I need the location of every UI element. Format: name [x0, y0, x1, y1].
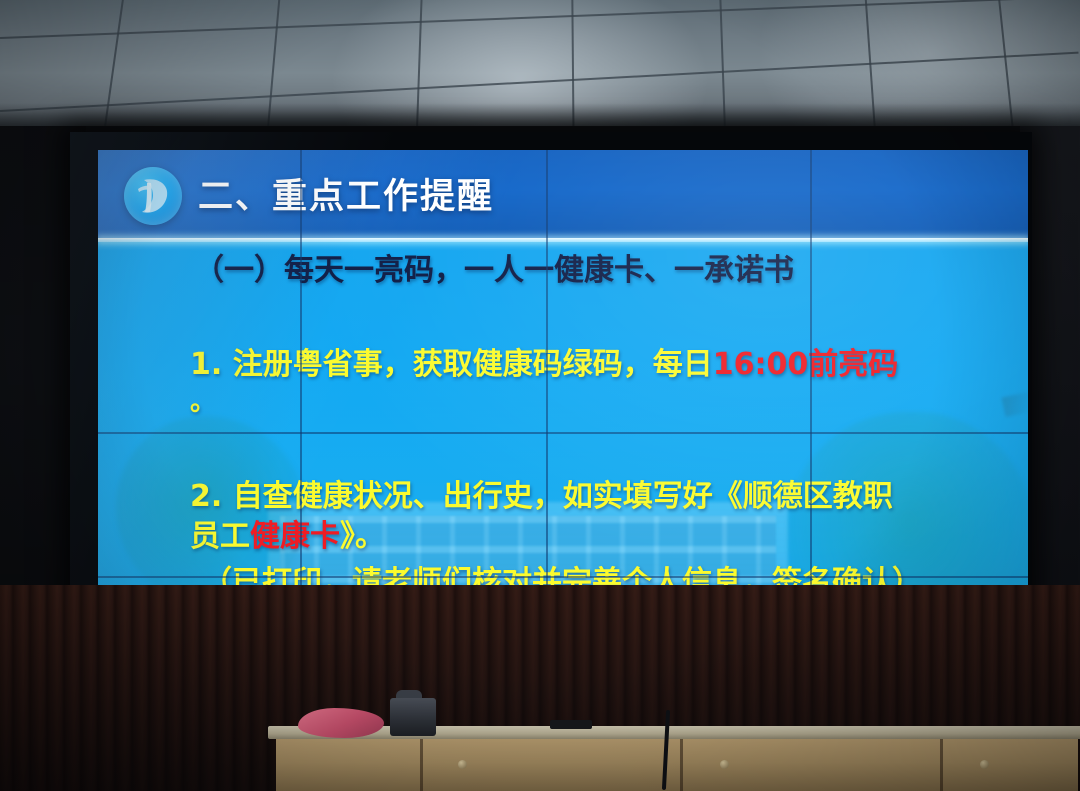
- list-item-1-text: 注册粤省事，获取健康码绿码，每日: [233, 347, 713, 382]
- mobile-phone: [550, 720, 592, 729]
- list-item-2-line1: 2. 自查健康状况、出行史，如实填写好《顺德区教职: [190, 478, 893, 516]
- organization-logo-icon: [124, 167, 182, 225]
- list-item-1-tail: 。: [190, 386, 216, 419]
- podium-panel-seam: [940, 739, 943, 791]
- pink-cloth: [298, 708, 384, 738]
- list-item-2-text-b: 员工: [190, 519, 250, 554]
- podium-front-panel: [276, 739, 1078, 791]
- list-item-1-highlight: 16:00前亮码: [713, 347, 899, 382]
- list-item-2-number: 2.: [190, 479, 222, 514]
- slide-title: 二、重点工作提醒: [198, 168, 494, 219]
- podium-panel-seam: [680, 739, 683, 791]
- cabinet-knob[interactable]: [458, 760, 467, 769]
- cabinet-knob[interactable]: [980, 760, 989, 769]
- conference-room-photo: 二、重点工作提醒 （一）每天一亮码，一人一健康卡、一承诺书 1. 注册粤省事，获…: [0, 0, 1080, 791]
- desk-device: [390, 698, 436, 736]
- list-item-2-highlight: 健康卡: [250, 519, 340, 554]
- list-item-1: 1. 注册粤省事，获取健康码绿码，每日16:00前亮码: [190, 346, 898, 384]
- ceiling: [0, 0, 1080, 133]
- podium-table: [268, 726, 1080, 791]
- list-item-2-text-a: 自查健康状况、出行史，如实填写好《顺德区教职: [233, 479, 893, 514]
- list-item-2-text-c: 》。: [340, 519, 385, 554]
- podium-panel-seam: [420, 739, 423, 791]
- list-item-2-line2: 员工健康卡》。: [190, 518, 385, 556]
- panel-seam-horizontal: [98, 432, 1028, 434]
- panel-seam-horizontal: [98, 576, 1028, 578]
- section-heading: （一）每天一亮码，一人一健康卡、一承诺书: [194, 252, 794, 290]
- list-item-1-number: 1.: [190, 347, 222, 382]
- cabinet-knob[interactable]: [720, 760, 729, 769]
